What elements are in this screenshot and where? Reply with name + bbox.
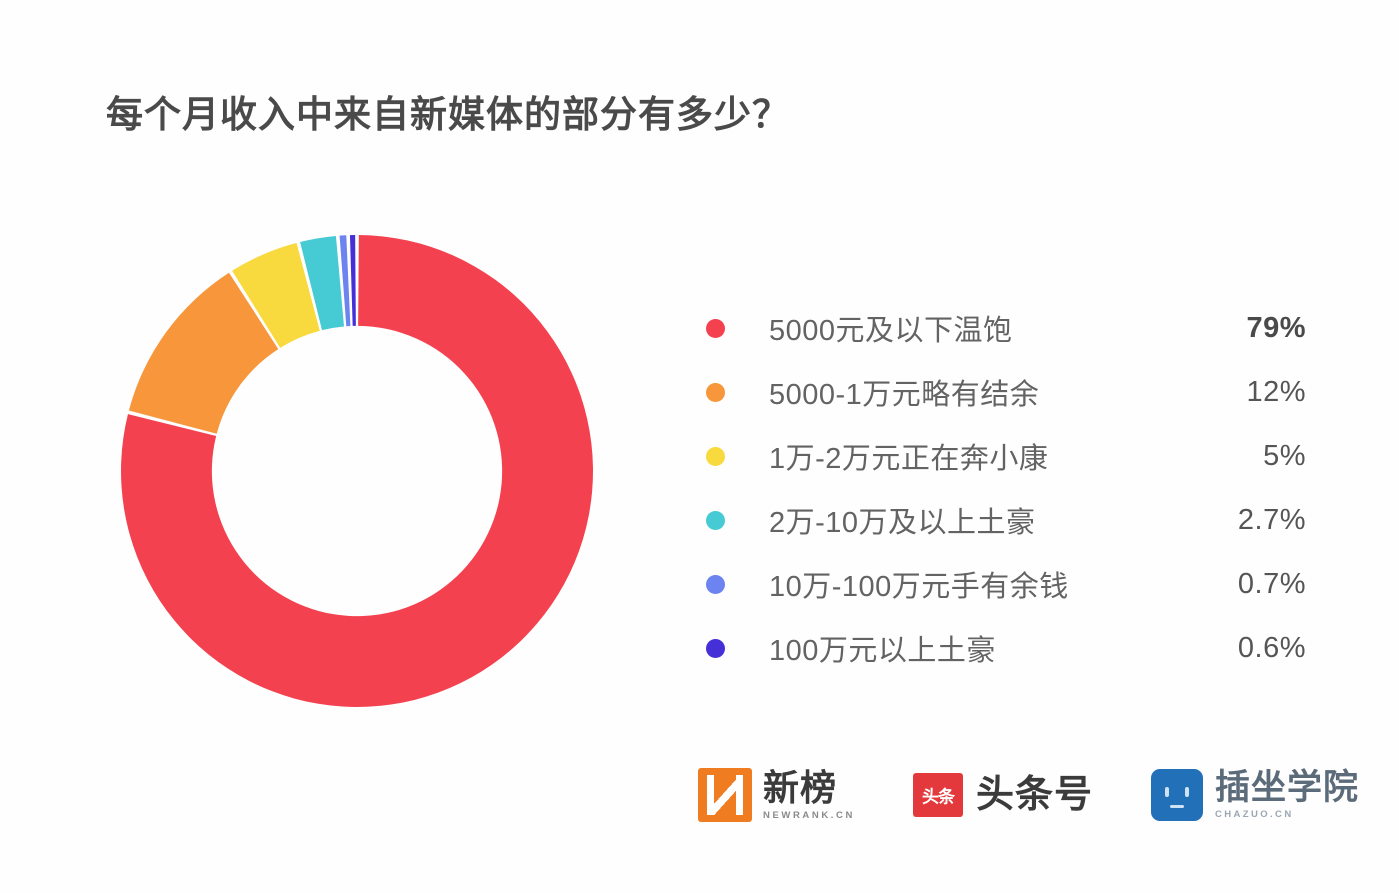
- legend-item-label: 5000元及以下温饱: [769, 307, 1013, 349]
- logo-chazuo: 插坐学院 CHAZUO.CN: [1151, 769, 1359, 821]
- legend: 5000元及以下温饱79%5000-1万元略有结余12%1万-2万元正在奔小康5…: [706, 296, 1306, 680]
- legend-item-label: 2万-10万及以上土豪: [769, 499, 1036, 541]
- chazuo-eye-left: [1165, 787, 1169, 797]
- legend-color-swatch-icon: [706, 319, 725, 338]
- legend-item-label: 100万元以上土豪: [769, 627, 996, 669]
- newrank-mark-icon: [698, 768, 752, 822]
- chazuo-mouth: [1170, 805, 1184, 808]
- chazuo-name: 插坐学院: [1215, 770, 1359, 805]
- legend-item-value: 2.7%: [1238, 504, 1306, 537]
- legend-color-swatch-icon: [706, 383, 725, 402]
- donut-chart-svg: [118, 232, 596, 710]
- chazuo-domain: CHAZUO.CN: [1215, 809, 1359, 820]
- logo-newrank: 新榜 NEWRANK.CN: [698, 768, 855, 822]
- donut-chart: [118, 232, 596, 710]
- donut-slice[interactable]: [350, 235, 356, 326]
- newrank-text: 新榜 NEWRANK.CN: [763, 770, 855, 821]
- legend-item[interactable]: 10万-100万元手有余钱0.7%: [706, 552, 1306, 616]
- legend-item-label: 5000-1万元略有结余: [769, 371, 1039, 413]
- chazuo-face-icon: [1151, 769, 1203, 821]
- chazuo-text: 插坐学院 CHAZUO.CN: [1215, 770, 1359, 820]
- legend-item-value: 0.6%: [1238, 632, 1306, 665]
- legend-color-swatch-icon: [706, 575, 725, 594]
- legend-item[interactable]: 5000元及以下温饱79%: [706, 296, 1306, 360]
- legend-item-value: 0.7%: [1238, 568, 1306, 601]
- legend-item-label: 1万-2万元正在奔小康: [769, 435, 1048, 477]
- legend-item-value: 12%: [1246, 376, 1306, 409]
- legend-item[interactable]: 100万元以上土豪0.6%: [706, 616, 1306, 680]
- toutiao-badge-label: 头条: [913, 783, 963, 808]
- infographic-slide: 每个月收入中来自新媒体的部分有多少？ 5000元及以下温饱79%5000-1万元…: [0, 0, 1399, 893]
- donut-slice-group: [121, 235, 593, 707]
- legend-item[interactable]: 1万-2万元正在奔小康5%: [706, 424, 1306, 488]
- legend-item[interactable]: 5000-1万元略有结余12%: [706, 360, 1306, 424]
- legend-item-value: 5%: [1263, 440, 1306, 473]
- toutiao-badge-icon: 头条: [913, 773, 963, 817]
- legend-color-swatch-icon: [706, 511, 725, 530]
- newrank-name: 新榜: [763, 770, 855, 806]
- chazuo-eye-right: [1185, 787, 1189, 797]
- logo-bar: 新榜 NEWRANK.CN 头条 头条号 插坐学院 CHAZUO.CN: [698, 768, 1359, 822]
- legend-item-label: 10万-100万元手有余钱: [769, 563, 1069, 605]
- newrank-domain: NEWRANK.CN: [763, 810, 855, 821]
- legend-item-value: 79%: [1246, 312, 1306, 345]
- legend-color-swatch-icon: [706, 447, 725, 466]
- logo-toutiao: 头条 头条号: [913, 773, 1093, 817]
- legend-item[interactable]: 2万-10万及以上土豪2.7%: [706, 488, 1306, 552]
- page-title: 每个月收入中来自新媒体的部分有多少？: [106, 84, 790, 138]
- legend-color-swatch-icon: [706, 639, 725, 658]
- toutiao-name: 头条号: [976, 775, 1093, 815]
